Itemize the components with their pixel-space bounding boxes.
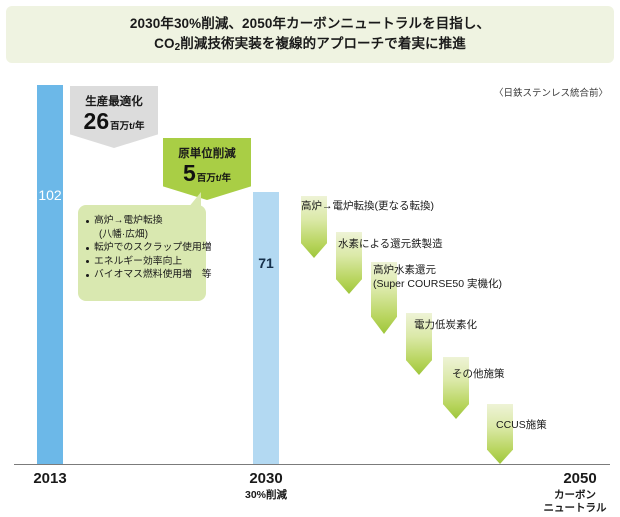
callout-green-number: 5 (183, 162, 196, 185)
banner-line-2: CO2削減技術実装を複線的アプローチで着実に推進 (154, 34, 466, 56)
callout-gray-title: 生産最適化 (85, 93, 143, 109)
callout-intensity-reduction: 原単位削減 5 百万t/年 (163, 138, 251, 200)
callout-gray-number: 26 (84, 110, 110, 133)
axis-sub-2050: カーボン ニュートラル (540, 489, 610, 515)
step-label-3-line1: 高炉水素還元 (373, 263, 502, 277)
list-item: エネルギー効率向上 (86, 255, 200, 269)
callout-production-optimization: 生産最適化 26 百万t/年 (70, 86, 158, 148)
callout-gray-value: 26 百万t/年 (84, 110, 145, 133)
slide-canvas: 2030年30%削減、2050年カーボンニュートラルを目指し、 CO2削減技術実… (0, 0, 620, 517)
axis-label-2030: 2030 (236, 470, 296, 487)
measures-list: 高炉→電炉転換 (八幡·広畑) 転炉でのスクラップ使用増 エネルギー効率向上 バ… (86, 214, 200, 282)
list-item: 転炉でのスクラップ使用増 (86, 241, 200, 255)
banner-co2-subscript: 2 (175, 42, 181, 53)
step-chevron-6 (487, 404, 513, 464)
axis-sub-2030: 30%削減 (236, 489, 296, 502)
step-label-3: 高炉水素還元 (Super COURSE50 実機化) (373, 263, 502, 291)
step-label-2: 水素による還元鉄製造 (338, 237, 443, 251)
step-label-3-line2: (Super COURSE50 実機化) (373, 277, 502, 291)
axis-sub-2050-line1: カーボン (540, 489, 610, 502)
callout-gray-unit: 百万t/年 (110, 118, 144, 132)
callout-green-value: 5 百万t/年 (183, 162, 231, 185)
axis-label-2050: 2050 (550, 470, 610, 487)
axis-label-2013: 2013 (20, 470, 80, 487)
measures-bubble: 高炉→電炉転換 (八幡·広畑) 転炉でのスクラップ使用増 エネルギー効率向上 バ… (78, 205, 206, 301)
list-item: バイオマス燃料使用増 等 (86, 268, 200, 282)
time-axis (14, 464, 610, 465)
axis-sub-2050-line2: ニュートラル (540, 502, 610, 515)
banner-co2-text: CO (154, 36, 174, 51)
callout-green-title: 原単位削減 (178, 145, 236, 161)
bar-2013: 102 (37, 85, 63, 464)
callout-green-unit: 百万t/年 (197, 170, 231, 184)
step-label-4: 電力低炭素化 (414, 318, 477, 332)
bar-2013-value: 102 (38, 187, 61, 203)
banner-line-2-text: 削減技術実装を複線的アプローチで着実に推進 (180, 36, 466, 51)
banner-line-1-text: 2030年30%削減、2050年カーボンニュートラルを目指し、 (130, 16, 490, 31)
list-item: 高炉→電炉転換 (86, 214, 200, 228)
bar-2030: 71 (253, 192, 279, 464)
source-note: 〈日鉄ステンレス統合前〉 (494, 85, 608, 99)
step-label-5: その他施策 (452, 367, 505, 381)
step-label-1: 高炉→電炉転換(更なる転換) (301, 199, 434, 213)
bar-2030-value: 71 (258, 255, 274, 271)
header-banner: 2030年30%削減、2050年カーボンニュートラルを目指し、 CO2削減技術実… (6, 6, 614, 63)
step-label-6: CCUS施策 (496, 418, 547, 432)
banner-line-1: 2030年30%削減、2050年カーボンニュートラルを目指し、 (130, 14, 490, 34)
list-item: (八幡·広畑) (86, 228, 200, 242)
